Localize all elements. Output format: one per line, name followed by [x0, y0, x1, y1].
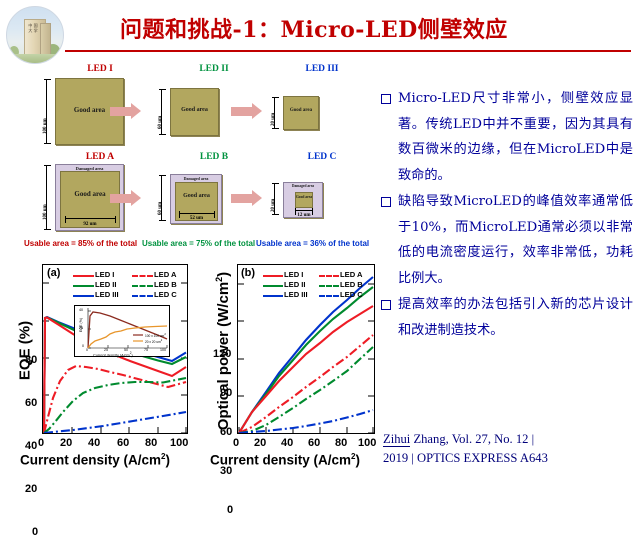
- chart-a-ytick-80: 80: [25, 354, 37, 366]
- led-b-good-area-box: Good area 52 um: [175, 182, 218, 221]
- chart-a-xtick-60: 60: [117, 437, 129, 449]
- citation-block: Zihui Zhang, Vol. 27, No. 12 | 2019 | OP…: [383, 430, 633, 468]
- chart-b-panel-id: (b): [241, 267, 255, 279]
- inset-ytick-40: 40: [79, 308, 83, 312]
- led-c-area-text: Good area: [296, 195, 312, 200]
- chart-optical-power: Optical power (W/cm2) 120 90 60 30 0: [192, 258, 382, 476]
- chart-b-x-axis-title: Current density (A/cm2): [210, 452, 360, 468]
- process-arrow-3: [110, 194, 132, 203]
- usable-area-caption-c: Usable area = 36% of the total: [256, 239, 369, 248]
- led-3-height-label: 20 um: [271, 113, 276, 126]
- led-c-width-dim: [295, 210, 313, 211]
- led-label-1: LED I: [52, 64, 148, 74]
- legend-b-swatch-led-c: [319, 295, 339, 297]
- led-1-height-dim: [46, 79, 47, 144]
- usable-area-caption-a: Usable area = 85% of the total: [24, 239, 137, 248]
- led-c-width-label: 12 um: [289, 213, 319, 218]
- led-c-height-label: 20 um: [271, 199, 276, 212]
- legend-b-swatch-led-a: [319, 275, 339, 277]
- citation-rest: Zhang, Vol. 27, No. 12 |: [410, 432, 534, 446]
- led-2-area-text: Good area: [171, 107, 218, 113]
- chart-b-xtick-100: 100: [358, 437, 376, 449]
- legend-swatch-led-a: [132, 275, 153, 277]
- led-2-good-area-box: Good area: [170, 88, 219, 136]
- inset-xtick-100: 100: [160, 348, 166, 352]
- chart-b-xtick-20: 20: [254, 437, 266, 449]
- legend-label-led-2: LED II: [95, 280, 117, 289]
- slide-canvas: 中 国 大 学 问题和挑战-1：Micro-LED侧壁效应 LED I LED …: [0, 0, 636, 477]
- legend-b-swatch-led-1: [263, 275, 283, 277]
- chart-a-xtick-0: 0: [38, 437, 44, 449]
- led-c-damaged-area-box: Damaged area Good area 12 um: [283, 182, 323, 218]
- chart-a-inset-svg: [75, 306, 169, 356]
- chart-b-ytick-120: 120: [213, 348, 231, 360]
- legend-b-label-led-3: LED III: [284, 290, 308, 299]
- inset-legend-label-1: 100 x 100 um2: [145, 333, 166, 338]
- led-label-a: LED A: [52, 152, 148, 162]
- bullet-item-3: 提高效率的办法包括引入新的芯片设计和改进制造技术。: [381, 292, 633, 343]
- led-a-width-dim: [65, 218, 116, 219]
- legend-swatch-led-b: [132, 285, 153, 287]
- process-arrow-1: [110, 107, 132, 116]
- chart-b-ytick-90: 90: [220, 387, 232, 399]
- university-logo: 中 国 大 学: [6, 6, 64, 64]
- chart-b-xtick-40: 40: [281, 437, 293, 449]
- page-title: 问题和挑战-1：Micro-LED侧壁效应: [120, 12, 620, 44]
- led-c-good-area-box: Good area: [295, 192, 313, 208]
- bullet-item-2: 缺陷导致MicroLED的峰值效率通常低于10%，而MicroLED通常必须以非…: [381, 189, 633, 291]
- inset-legend-label-2: 20 x 20 um2: [145, 339, 162, 344]
- legend-b-label-led-a: LED A: [340, 270, 363, 279]
- inset-y-axis-title: EQE (%): [79, 314, 83, 336]
- led-c-damaged-text: Damaged area: [284, 184, 322, 188]
- legend-label-led-3: LED III: [95, 290, 119, 299]
- legend-swatch-led-c: [132, 295, 153, 297]
- legend-label-led-1: LED I: [95, 270, 114, 279]
- chart-a-ytick-20: 20: [25, 483, 37, 495]
- logo-ground: [7, 54, 63, 63]
- chart-b-xtick-0: 0: [233, 437, 239, 449]
- led-a-height-dim: [46, 165, 47, 230]
- citation-author: Zihui: [383, 432, 410, 447]
- process-arrow-4: [231, 194, 253, 203]
- bullet-text-panel: Micro-LED尺寸非常小，侧壁效应显著。传统LED中并不重要，因为其具有数百…: [381, 86, 633, 344]
- chart-a-ytick-0: 0: [32, 526, 38, 538]
- legend-swatch-led-3: [73, 295, 94, 297]
- process-arrow-2: [231, 107, 253, 116]
- led-b-damaged-area-box: Damaged area Good area 52 um: [170, 174, 222, 224]
- chart-a-xtick-80: 80: [145, 437, 157, 449]
- chart-a-xtick-100: 100: [170, 437, 188, 449]
- usable-area-caption-b: Usable area = 75% of the total: [142, 239, 255, 248]
- legend-swatch-led-2: [73, 285, 94, 287]
- led-2-height-label: 60 um: [158, 116, 163, 129]
- legend-label-led-a: LED A: [154, 270, 177, 279]
- led-sidewall-diagram: LED I LED II LED III 100 um Good area 60…: [18, 64, 373, 249]
- chart-b-ytick-0: 0: [227, 504, 233, 516]
- legend-b-label-led-c: LED C: [340, 290, 363, 299]
- chart-b-xtick-60: 60: [308, 437, 320, 449]
- chart-a-plot-area: (a) LED I LED II LED III LED A LED B LED…: [42, 264, 188, 434]
- led-3-good-area-box: Good area: [283, 96, 319, 130]
- legend-swatch-led-1: [73, 275, 94, 277]
- bullet-item-1: Micro-LED尺寸非常小，侧壁效应显著。传统LED中并不重要，因为其具有数百…: [381, 86, 633, 188]
- led-a-height-label: 100 um: [43, 204, 48, 220]
- chart-a-xtick-40: 40: [88, 437, 100, 449]
- chart-b-ytick-60: 60: [220, 426, 232, 438]
- chart-a-inset: 40 20 0 0 25 50 75 100 EQE (%) Current d…: [74, 305, 170, 357]
- chart-a-xtick-20: 20: [60, 437, 72, 449]
- legend-label-led-b: LED B: [154, 280, 177, 289]
- legend-b-swatch-led-2: [263, 285, 283, 287]
- legend-b-label-led-1: LED I: [284, 270, 303, 279]
- led-label-c: LED C: [274, 152, 370, 162]
- legend-label-led-c: LED C: [154, 290, 177, 299]
- led-label-2: LED II: [166, 64, 262, 74]
- legend-b-label-led-2: LED II: [284, 280, 306, 289]
- led-b-damaged-text: Damaged area: [171, 176, 221, 181]
- chart-a-ytick-40: 40: [25, 440, 37, 452]
- logo-building-side: [40, 23, 51, 58]
- chart-a-x-axis-title: Current density (A/cm2): [20, 452, 170, 468]
- led-b-height-label: 60 um: [158, 202, 163, 215]
- led-label-3: LED III: [274, 64, 370, 74]
- led-b-area-text: Good area: [176, 193, 217, 199]
- led-b-width-label: 52 um: [176, 216, 217, 221]
- inset-x-axis-title: Current density (A/cm2): [93, 351, 133, 357]
- inset-ytick-0: 0: [82, 344, 84, 348]
- led-label-b: LED B: [166, 152, 262, 162]
- citation-line-2: 2019 | OPTICS EXPRESS A643: [383, 451, 548, 465]
- led-a-width-label: 92 um: [61, 222, 119, 227]
- inset-xtick-0: 0: [86, 348, 88, 352]
- logo-inscription: 中 国 大 学: [27, 23, 39, 33]
- chart-eqe: EQE (%) 80 60 40 20 0: [6, 258, 192, 476]
- chart-b-plot-area: (b) LED I LED II LED III LED A LED B LED…: [237, 264, 375, 434]
- legend-b-swatch-led-3: [263, 295, 283, 297]
- legend-b-swatch-led-b: [319, 285, 339, 287]
- chart-a-ytick-60: 60: [25, 397, 37, 409]
- led-b-width-dim: [179, 213, 215, 214]
- chart-b-xtick-80: 80: [335, 437, 347, 449]
- led-3-area-text: Good area: [284, 108, 318, 113]
- title-underline-rule: [65, 50, 631, 52]
- led-1-height-label: 100 um: [43, 118, 48, 134]
- chart-a-panel-id: (a): [47, 267, 60, 279]
- legend-b-label-led-b: LED B: [340, 280, 363, 289]
- inset-xtick-75: 75: [144, 348, 148, 352]
